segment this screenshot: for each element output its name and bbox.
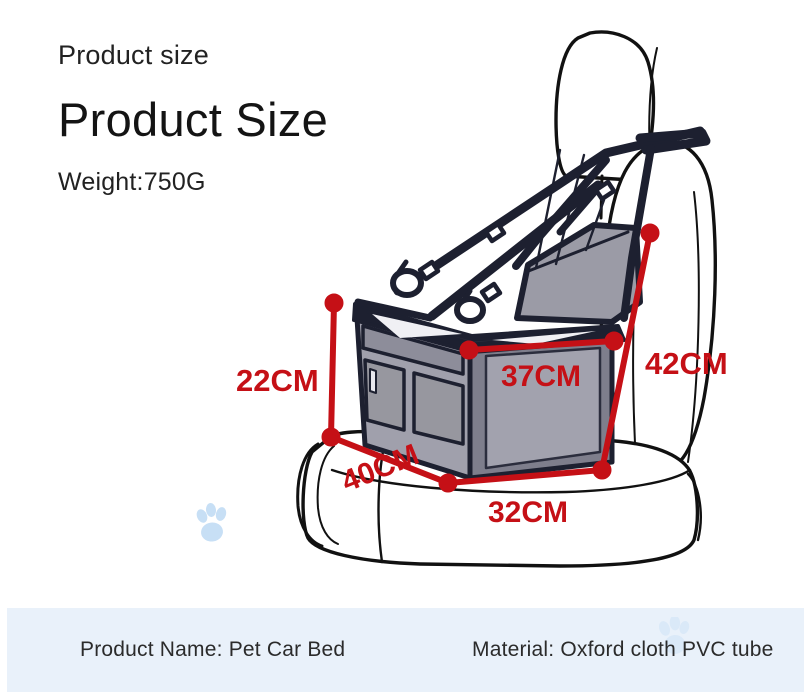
dim-dot-37-right [605,332,623,350]
paw-print-icon [195,503,228,543]
page-title: Product Size [58,96,328,143]
dimension-label-37cm: 37CM [501,360,581,394]
dimension-label-32cm: 32CM [488,496,568,530]
product-info-bar: Product Name: Pet Car Bed Material: Oxfo… [7,608,804,692]
bed-front-panel-lower-b [414,373,463,444]
product-material-text: Material: Oxford cloth PVC tube [472,638,774,662]
strap-buckle-left [420,262,438,279]
dim-dot-37-left [460,341,478,359]
header-block: Product size Product Size Weight:750G [58,42,328,195]
strap-buckle-middle [482,284,500,301]
page-eyebrow: Product size [58,42,328,69]
weight-label: Weight:750G [58,170,328,195]
dim-dot-42-top [641,224,659,242]
dim-line-22cm [331,303,334,437]
dimension-label-22cm: 22CM [236,363,319,399]
dim-dot-22-top [325,294,343,312]
carabiner-clip-left [393,262,421,295]
product-name-text: Product Name: Pet Car Bed [80,638,345,662]
bed-zipper-pull [370,369,376,393]
dimension-label-42cm: 42CM [645,346,728,382]
